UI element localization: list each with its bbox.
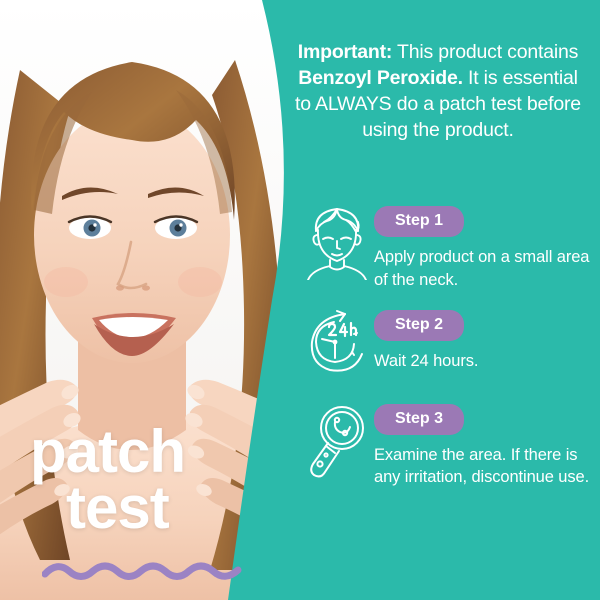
step-item-3: Step 3 Examine the area. If there is any… [300,400,600,490]
brand-title-line-2: test [66,480,280,536]
brand-title: patch test [30,424,280,536]
step-text-2: Wait 24 hours. [374,350,600,373]
step-badge-2: Step 2 [374,310,464,341]
step-item-2: Step 2 Wait 24 hours. [300,306,600,386]
headline-bold-ingredient: Benzoyl Peroxide. [298,67,463,89]
step-badge-3: Step 3 [374,404,464,435]
headline-regular-1: This product contains [392,41,578,63]
step-text-3: Examine the area. If there is any irrita… [374,444,600,490]
step-item-1: Step 1 Apply product on a small area of … [300,202,600,292]
step-body-1: Step 1 Apply product on a small area of … [374,202,600,292]
patch-test-infographic: patch test Important: This product conta… [0,0,600,600]
step-badge-1: Step 1 [374,206,464,237]
headline-bold-important: Important: [298,41,392,63]
face-with-hair-towel-icon [300,202,374,282]
step-text-1: Apply product on a small area of the nec… [374,246,600,292]
headline-text: Important: This product contains Benzoyl… [288,40,588,144]
step-body-2: Step 2 Wait 24 hours. [374,306,600,373]
clock-24h-icon [300,306,374,386]
brand-title-line-1: patch [30,424,280,480]
steps-list: Step 1 Apply product on a small area of … [300,202,600,503]
wavy-line-icon [42,558,242,584]
step-body-3: Step 3 Examine the area. If there is any… [374,400,600,490]
magnifying-glass-icon [300,400,374,480]
